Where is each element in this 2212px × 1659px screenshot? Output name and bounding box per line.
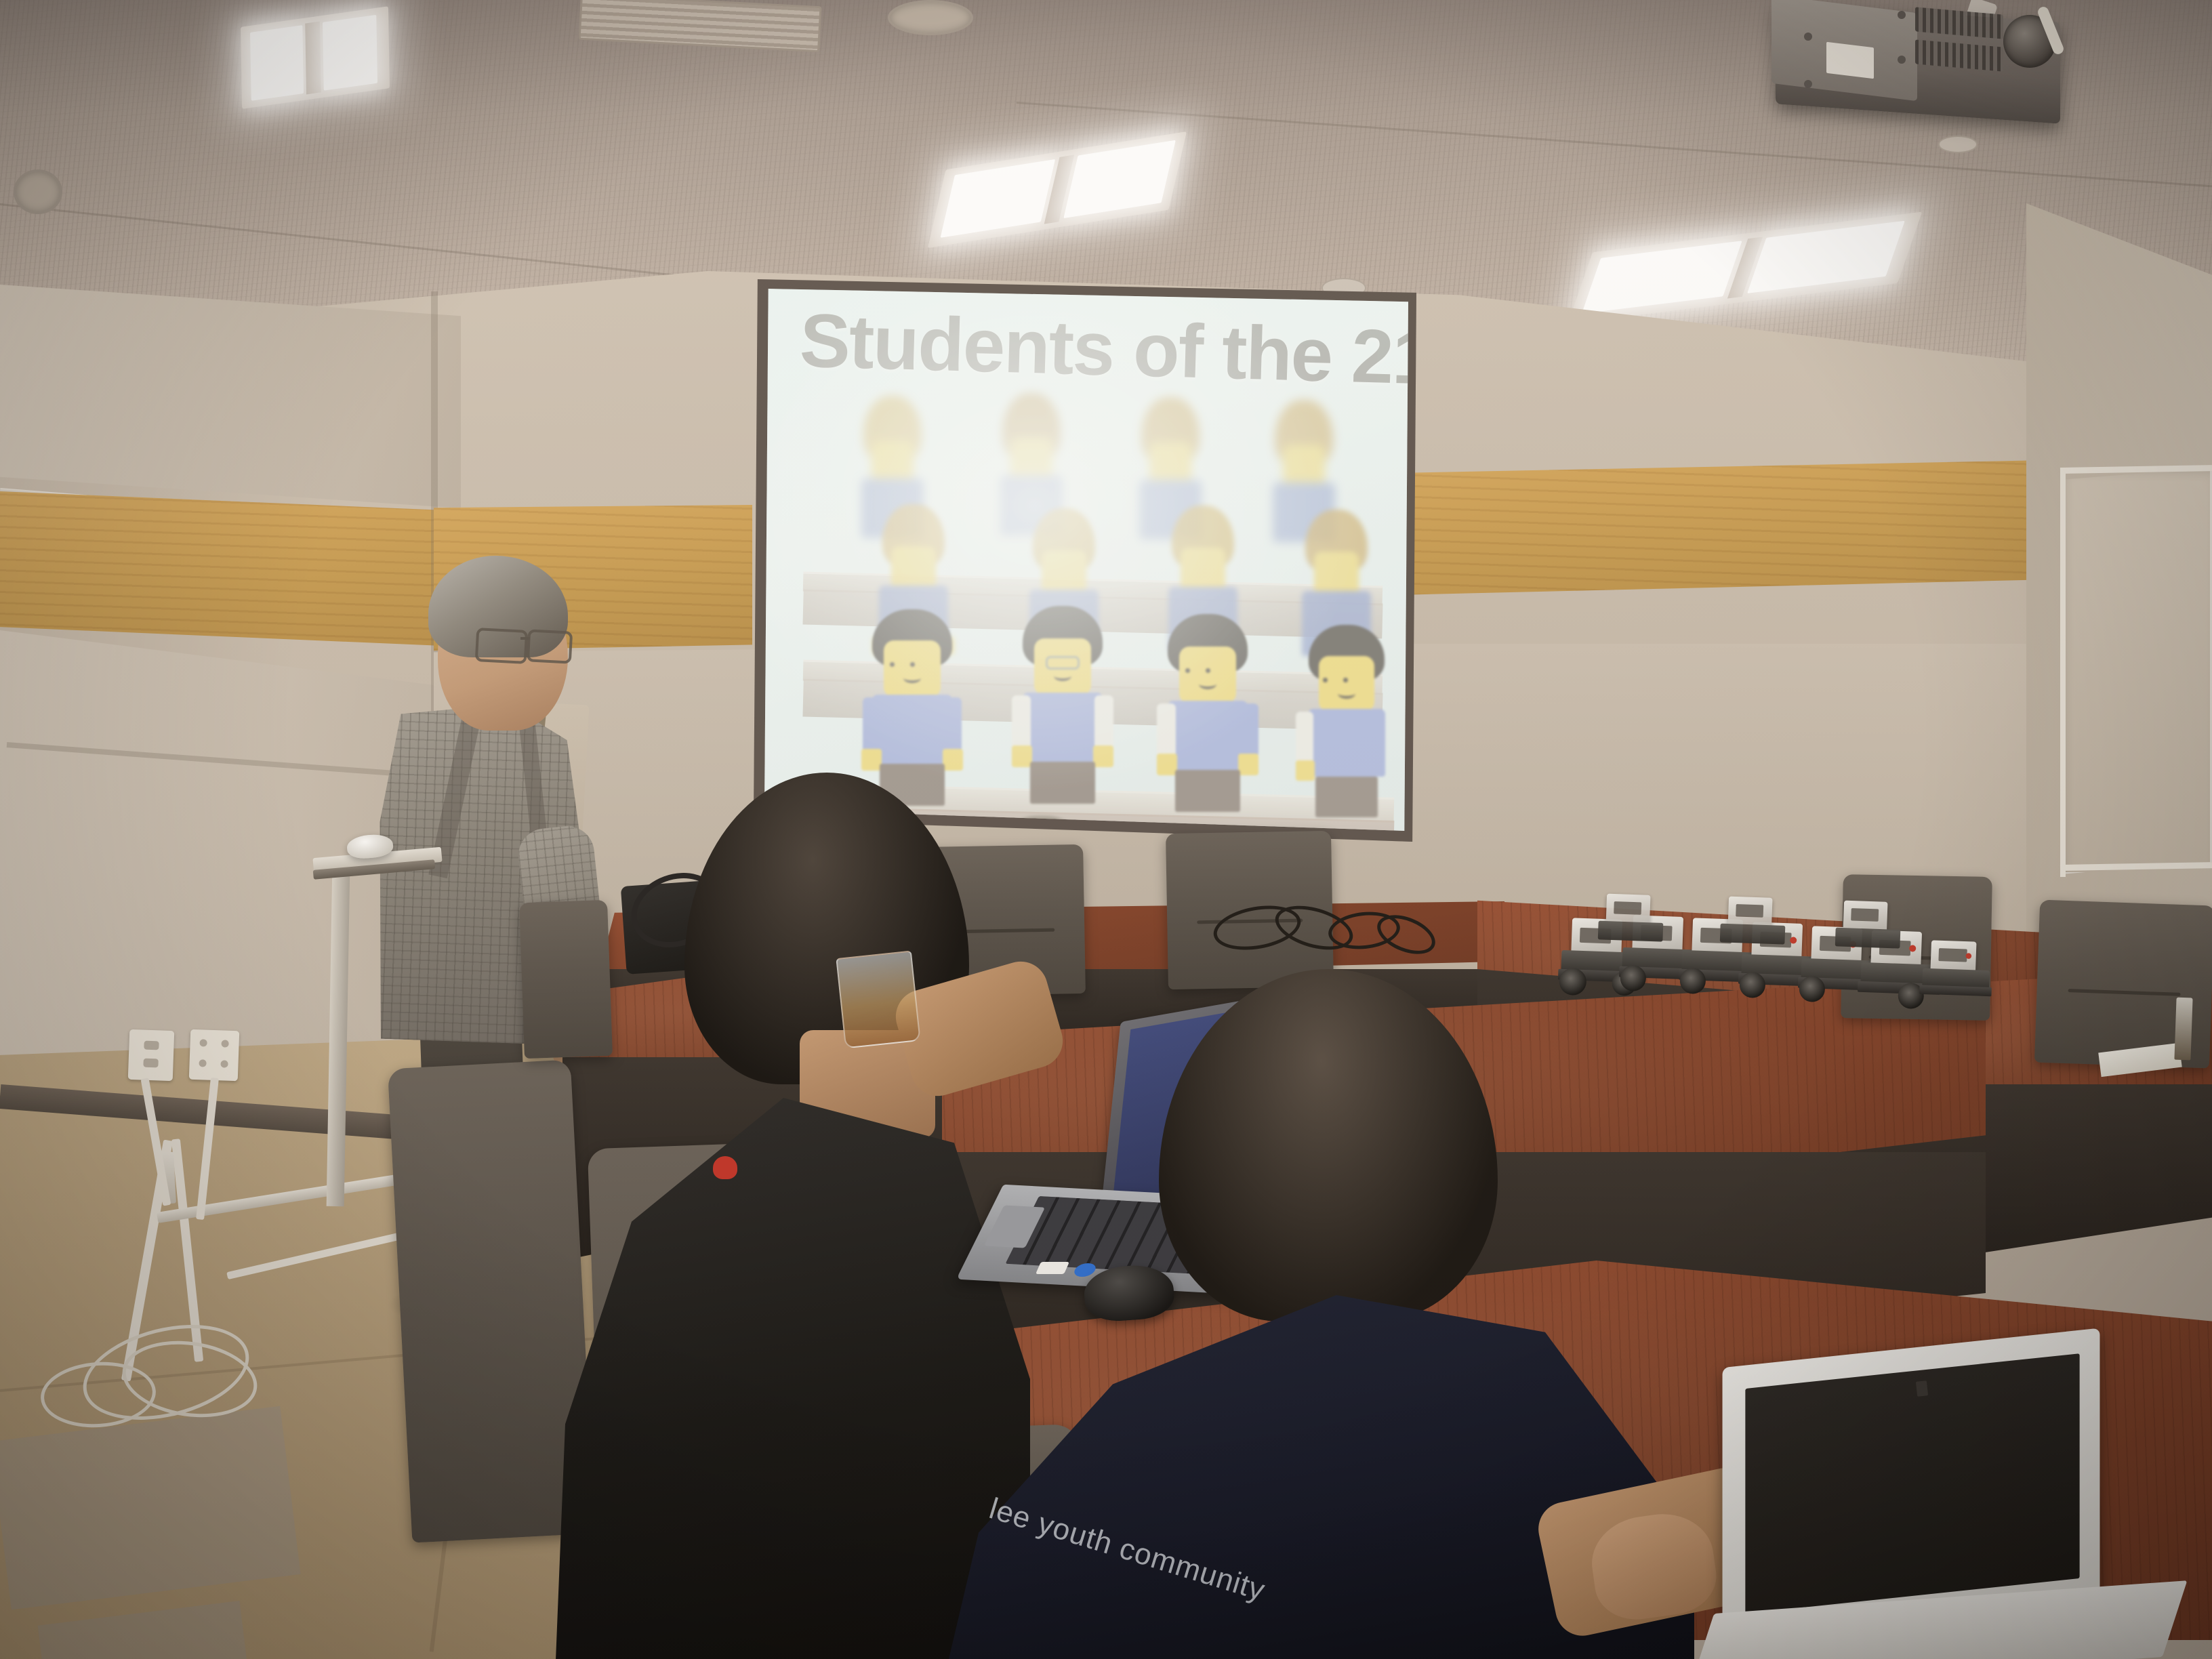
back-wall-wainscot-right <box>1396 459 2081 595</box>
presenter-glasses <box>475 628 529 664</box>
ev3-robot[interactable] <box>1595 893 1672 958</box>
projection-screen: Students of the 21st Century <box>764 289 1408 831</box>
ceiling-diffuser <box>14 169 62 214</box>
recess-edge <box>2060 468 2066 877</box>
left-wall-upper <box>0 285 461 508</box>
presenter-glasses-bridge <box>520 637 530 640</box>
ev3-robot[interactable] <box>1832 900 1909 965</box>
floor-tile <box>0 1406 301 1610</box>
webcam-icon <box>1916 1380 1928 1397</box>
ev3-robot[interactable] <box>1919 940 1999 1013</box>
lego-minifigure <box>1296 625 1397 828</box>
plastic-cup[interactable] <box>836 951 920 1049</box>
slide-lecture-hall <box>803 375 1382 809</box>
wall-recess-panel <box>2060 468 2212 874</box>
projector-label <box>1826 42 1874 79</box>
attendee-hair <box>1159 969 1498 1322</box>
ev3-robot[interactable] <box>1717 896 1794 961</box>
lego-minifigure <box>1157 614 1258 817</box>
ceiling-diffuser <box>888 0 973 35</box>
bottle[interactable] <box>2174 998 2192 1061</box>
laptop-screen <box>1745 1353 2079 1614</box>
laptop-white[interactable] <box>1701 1349 2189 1659</box>
presenter-glasses <box>527 629 573 663</box>
power-outlet[interactable] <box>128 1029 175 1081</box>
seminar-room-photo: Students of the 21st Century <box>0 0 2212 1659</box>
ceiling-projector <box>1762 0 2081 139</box>
shirt-logo <box>713 1156 737 1179</box>
power-outlet[interactable] <box>189 1029 240 1081</box>
